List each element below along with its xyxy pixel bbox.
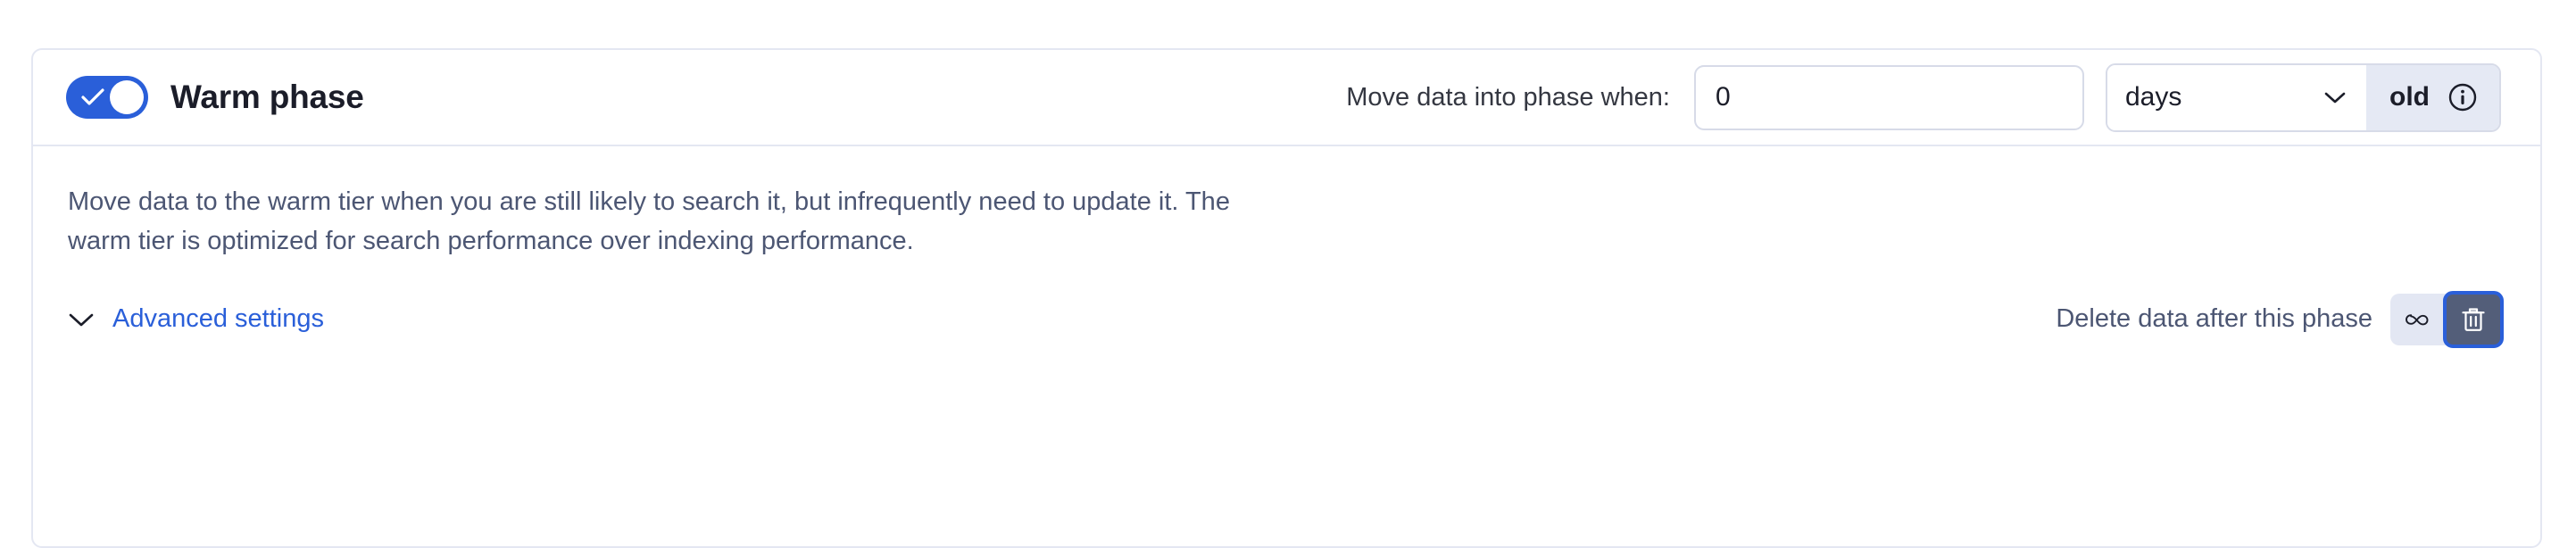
delete-data-button[interactable] — [2446, 294, 2501, 345]
delete-data-label: Delete data after this phase — [2056, 304, 2372, 334]
unit-append-old: old — [2366, 65, 2499, 130]
check-icon — [81, 87, 104, 107]
card-body: Move data to the warm tier when you are … — [33, 146, 2540, 345]
phase-description: Move data to the warm tier when you are … — [68, 182, 1282, 262]
infinity-icon — [2403, 304, 2433, 335]
keep-data-forever-button[interactable] — [2390, 294, 2446, 345]
old-label: old — [2389, 82, 2430, 112]
header-left-group: Warm phase — [66, 76, 364, 119]
min-age-input[interactable] — [1694, 65, 2084, 130]
page-title: Warm phase — [170, 79, 364, 116]
move-data-label: Move data into phase when: — [1346, 83, 1670, 112]
retention-button-group — [2390, 294, 2501, 345]
info-circle-icon[interactable] — [2447, 82, 2478, 112]
advanced-settings-label: Advanced settings — [112, 304, 324, 334]
advanced-settings-toggle[interactable]: Advanced settings — [68, 304, 324, 334]
warm-phase-panel: Warm phase Move data into phase when: da… — [0, 0, 2576, 530]
unit-select-value: days — [2125, 82, 2181, 112]
chevron-down-icon — [68, 311, 95, 328]
unit-select[interactable]: days — [2107, 65, 2366, 130]
chevron-down-icon — [2323, 90, 2347, 104]
phase-enabled-toggle[interactable] — [66, 76, 148, 119]
header-right-group: Move data into phase when: days old — [1346, 63, 2501, 132]
card-header: Warm phase Move data into phase when: da… — [33, 50, 2540, 146]
warm-phase-card: Warm phase Move data into phase when: da… — [31, 48, 2542, 548]
card-footer-row: Advanced settings Delete data after this… — [68, 294, 2501, 345]
unit-select-group: days old — [2106, 63, 2501, 132]
retention-controls: Delete data after this phase — [2056, 294, 2501, 345]
toggle-knob — [110, 80, 144, 114]
trash-icon — [2458, 304, 2489, 335]
